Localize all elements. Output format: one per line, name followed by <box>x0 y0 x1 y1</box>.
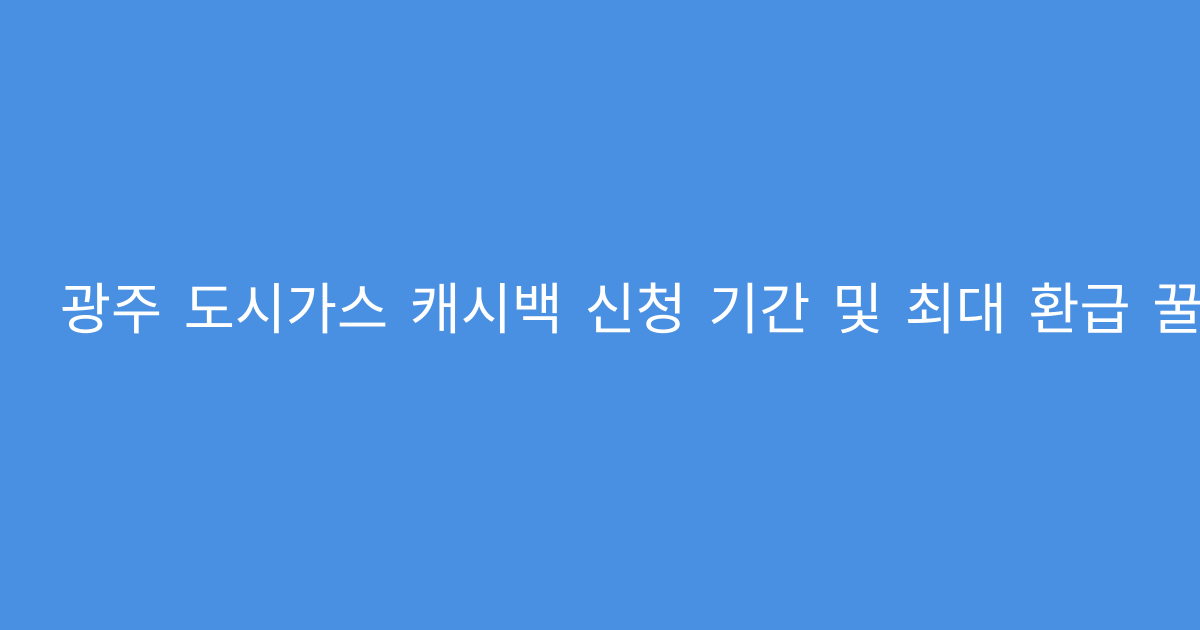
share-card-content: 광주 도시가스 캐시백 신청 기간 및 최대 환급 꿀팁 <box>0 277 1200 345</box>
share-card: 광주 도시가스 캐시백 신청 기간 및 최대 환급 꿀팁 <box>0 0 1200 630</box>
page-title: 광주 도시가스 캐시백 신청 기간 및 최대 환급 꿀팁 <box>60 277 1140 345</box>
